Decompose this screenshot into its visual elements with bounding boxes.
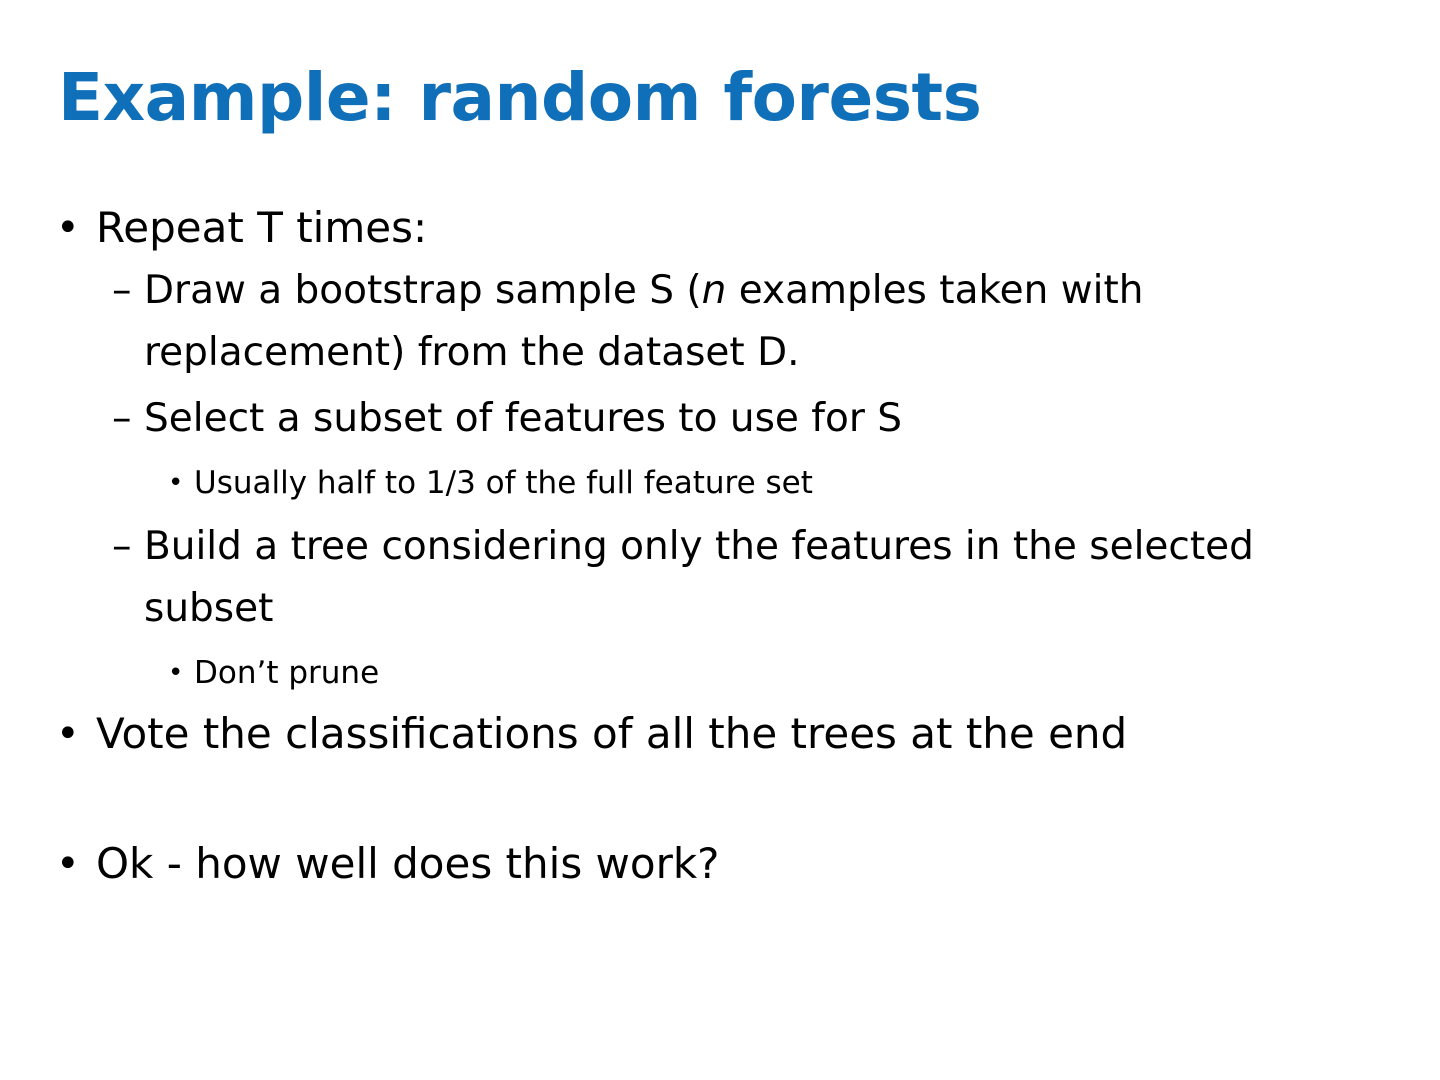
- bullet-marker-icon: •: [56, 200, 96, 256]
- bullet-item-level2: – Draw a bootstrap sample S (n examples …: [0, 260, 1440, 384]
- bullet-item-level1: • Vote the classifications of all the tr…: [0, 706, 1440, 762]
- bullet-text: Don’t prune: [194, 644, 1440, 702]
- bullet-text: Ok - how well does this work?: [96, 836, 1440, 892]
- bullet-item-level1: • Ok - how well does this work?: [0, 836, 1440, 892]
- slide-canvas: Example: random forests • Repeat T times…: [0, 0, 1440, 1080]
- bullet-marker-icon: •: [168, 644, 194, 702]
- bullet-item-level2: – Build a tree considering only the feat…: [0, 516, 1440, 640]
- bullet-marker-icon: •: [56, 836, 96, 892]
- bullet-text: Vote the classifications of all the tree…: [96, 706, 1440, 762]
- slide-body: • Repeat T times: – Draw a bootstrap sam…: [0, 200, 1440, 896]
- page-title: Example: random forests: [58, 62, 1388, 133]
- dash-marker-icon: –: [112, 388, 144, 450]
- bullet-marker-icon: •: [168, 454, 194, 512]
- bullet-text: Select a subset of features to use for S: [144, 388, 1440, 450]
- bullet-text: Build a tree considering only the featur…: [144, 516, 1440, 640]
- bullet-item-empty: [0, 766, 1440, 832]
- dash-marker-icon: –: [112, 260, 144, 322]
- bullet-text: Usually half to 1/3 of the full feature …: [194, 454, 1440, 512]
- dash-marker-icon: –: [112, 516, 144, 578]
- bullet-text: Draw a bootstrap sample S (n examples ta…: [144, 260, 1440, 384]
- bullet-text-italic: n: [702, 268, 727, 313]
- bullet-text: Repeat T times:: [96, 200, 1440, 256]
- bullet-item-level3: • Don’t prune: [0, 644, 1440, 702]
- bullet-item-level3: • Usually half to 1/3 of the full featur…: [0, 454, 1440, 512]
- bullet-marker-icon: •: [56, 706, 96, 762]
- bullet-item-level1: • Repeat T times:: [0, 200, 1440, 256]
- bullet-text-segment: Draw a bootstrap sample S (: [144, 268, 702, 313]
- bullet-item-level2: – Select a subset of features to use for…: [0, 388, 1440, 450]
